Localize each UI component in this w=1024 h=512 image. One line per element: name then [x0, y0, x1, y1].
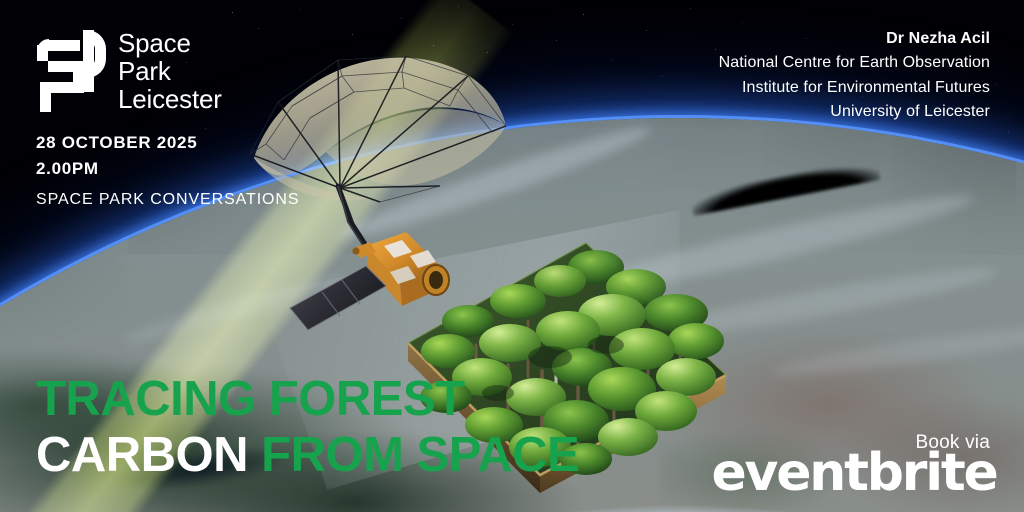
- space-park-leicester-logo[interactable]: Space Park Leicester: [36, 28, 222, 116]
- speaker-affiliation-2: Institute for Environmental Futures: [719, 76, 990, 100]
- eventbrite-text: eventbrite: [711, 443, 996, 503]
- logo-wordmark: Space Park Leicester: [118, 30, 222, 113]
- title-line-1: TRACING FOREST: [36, 371, 579, 427]
- event-time: 2.00PM: [36, 156, 299, 182]
- speaker-credits: Dr Nezha Acil National Centre for Earth …: [719, 27, 990, 124]
- title-word-carbon: CARBON: [36, 428, 248, 482]
- logo-word-leicester: Leicester: [118, 86, 222, 114]
- logo-word-park: Park: [118, 58, 222, 86]
- event-banner: Space Park Leicester 28 OCTOBER 2025 2.0…: [0, 0, 1024, 512]
- logo-word-space: Space: [118, 30, 222, 58]
- event-title: TRACING FOREST CARBON FROM SPACE: [36, 371, 579, 483]
- speaker-name: Dr Nezha Acil: [719, 27, 990, 51]
- title-line-2: CARBON FROM SPACE: [36, 427, 579, 483]
- title-phrase-from-space: FROM SPACE: [248, 428, 579, 482]
- eventbrite-logo[interactable]: eventbrite: [714, 446, 994, 500]
- space-park-leicester-monogram-icon: [36, 28, 106, 116]
- speaker-affiliation-3: University of Leicester: [719, 100, 990, 124]
- event-date: 28 OCTOBER 2025: [36, 130, 299, 156]
- eventbrite-wordmark-icon: eventbrite: [714, 446, 994, 500]
- solar-panel-array: [290, 266, 386, 330]
- speaker-affiliation-1: National Centre for Earth Observation: [719, 51, 990, 75]
- event-details: 28 OCTOBER 2025 2.00PM SPACE PARK CONVER…: [36, 130, 299, 213]
- event-series-name: SPACE PARK CONVERSATIONS: [36, 186, 299, 213]
- antenna-boom: [338, 186, 370, 252]
